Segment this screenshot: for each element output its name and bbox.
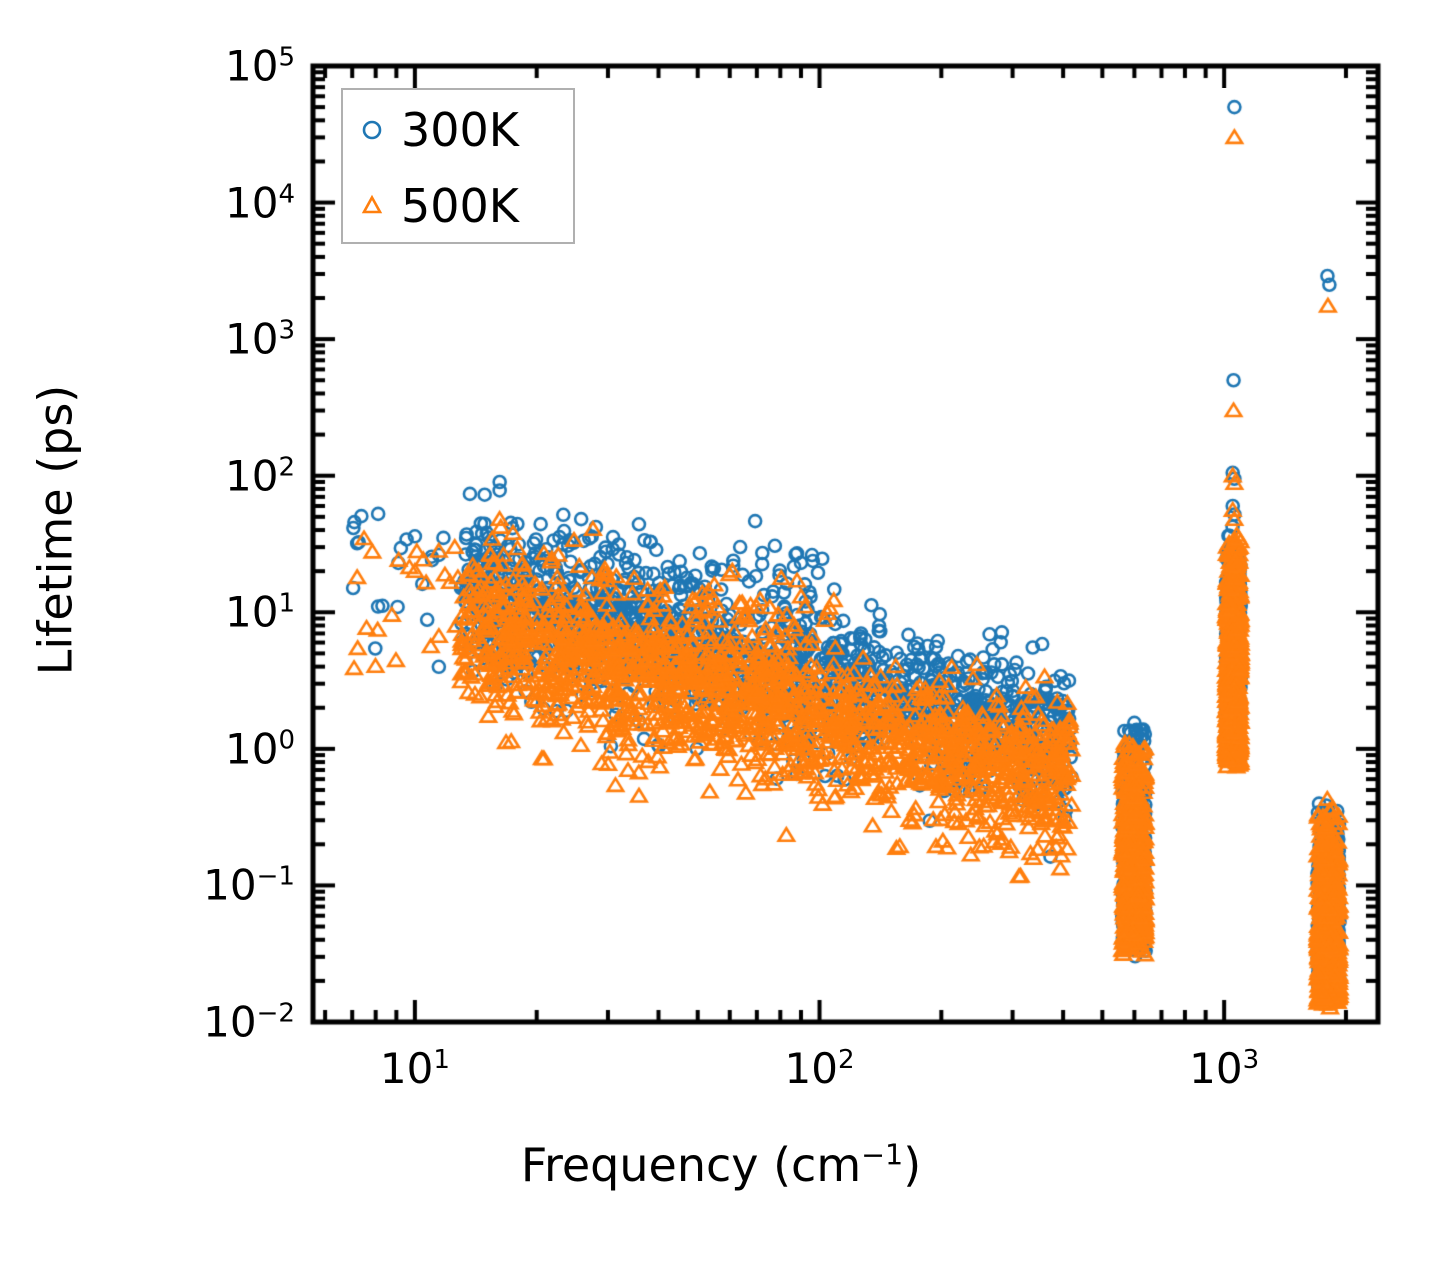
y-tick-label: 104 [225, 178, 295, 227]
legend-entry-500k[interactable]: 500K [343, 174, 573, 238]
triangle-open-icon [343, 193, 401, 219]
legend-label-300k: 300K [401, 103, 519, 157]
x-axis-label: Frequency (cm−1) [0, 1138, 1442, 1192]
y-tick-label: 10−1 [203, 861, 295, 910]
x-tick-label: 101 [380, 1044, 450, 1093]
circle-open-icon [343, 117, 401, 143]
legend-entry-300k[interactable]: 300K [343, 98, 573, 162]
y-tick-label: 101 [225, 588, 295, 637]
legend-label-500k: 500K [401, 179, 519, 233]
x-tick-label: 103 [1189, 1044, 1259, 1093]
y-tick-label: 100 [225, 724, 295, 773]
y-tick-label: 103 [225, 315, 295, 364]
y-tick-label: 102 [225, 451, 295, 500]
figure-root: 10510410310210110010−110−2101102103 300K… [0, 0, 1442, 1273]
x-tick-label: 102 [785, 1044, 855, 1093]
y-axis-label-wrapper: Lifetime (ps) [0, 0, 110, 1060]
y-tick-label: 10−2 [203, 998, 295, 1047]
y-axis-label: Lifetime (ps) [28, 385, 82, 676]
y-tick-label: 105 [225, 42, 295, 91]
legend-box[interactable]: 300K 500K [341, 88, 575, 244]
